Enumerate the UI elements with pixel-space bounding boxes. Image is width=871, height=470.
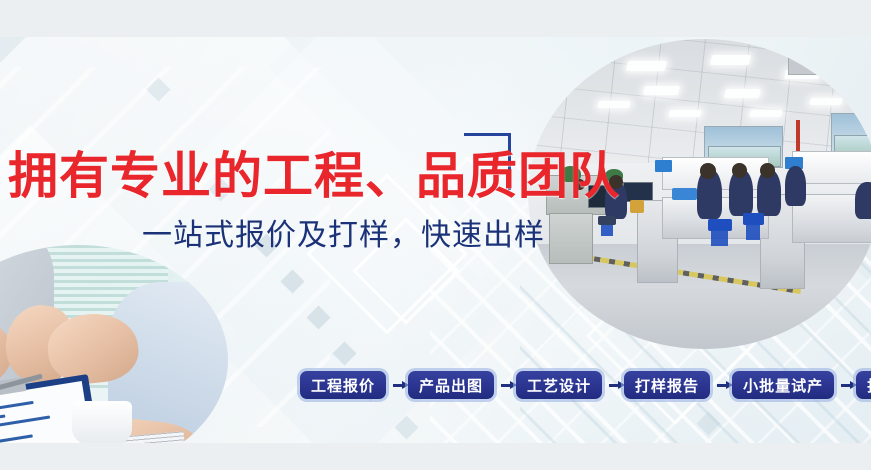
coffee-cup: [72, 401, 132, 443]
stool: [743, 213, 764, 225]
ceiling-light: [625, 61, 666, 71]
top-edge-strip: [0, 0, 871, 37]
promotional-banner: 拥有专业的工程、品质团队 一站式报价及打样，快速出样 工程报价 产品出图 工艺设…: [0, 0, 871, 470]
diamond-dot: [696, 411, 720, 435]
blue-parts-bin: [672, 188, 697, 200]
diamond-dot: [332, 341, 356, 365]
diamond-dot: [394, 415, 418, 439]
office-chair: [598, 216, 616, 225]
banner-canvas: 拥有专业的工程、品质团队 一站式报价及打样，快速出样 工程报价 产品出图 工艺设…: [0, 37, 871, 443]
station-label-tag: [655, 160, 673, 172]
flow-step-1[interactable]: 工程报价: [300, 371, 386, 399]
process-flow: 工程报价 产品出图 工艺设计 打样报告 小批量试产 批量量产: [300, 371, 871, 399]
flow-step-2[interactable]: 产品出图: [408, 371, 494, 399]
office-monitor: [623, 182, 653, 203]
ceiling-vent: [788, 58, 836, 76]
ceiling-light: [724, 89, 761, 98]
flow-arrow-icon: [834, 384, 856, 387]
worker-head: [760, 163, 775, 178]
bottom-edge-strip: [0, 443, 871, 470]
diamond-dot: [306, 305, 330, 329]
flow-arrow-icon: [602, 384, 624, 387]
office-desk-unit: [549, 213, 593, 265]
diamond-dot: [146, 77, 170, 101]
stool: [708, 219, 733, 231]
ceiling-light: [809, 98, 843, 105]
ceiling-light: [668, 110, 702, 117]
flow-arrow-icon: [710, 384, 732, 387]
ceiling-light: [710, 55, 751, 65]
worker-head: [700, 163, 715, 179]
flow-step-4[interactable]: 打样报告: [624, 371, 710, 399]
worker: [855, 182, 871, 219]
flow-step-5[interactable]: 小批量试产: [732, 371, 834, 399]
meeting-photo: [0, 245, 228, 443]
ceiling-light: [643, 86, 680, 95]
ceiling-light: [749, 110, 783, 117]
worker: [785, 166, 806, 206]
parts-box: [630, 200, 644, 212]
page-subtitle: 一站式报价及打样，快速出样: [142, 221, 545, 251]
flow-step-6[interactable]: 批量量产: [856, 371, 871, 399]
flow-step-3[interactable]: 工艺设计: [516, 371, 602, 399]
flow-arrow-icon: [386, 384, 408, 387]
diamond-dot: [280, 269, 304, 293]
worker-head: [732, 163, 747, 178]
page-title: 拥有专业的工程、品质团队: [8, 151, 620, 201]
flow-arrow-icon: [494, 384, 516, 387]
ceiling-light: [597, 101, 631, 108]
